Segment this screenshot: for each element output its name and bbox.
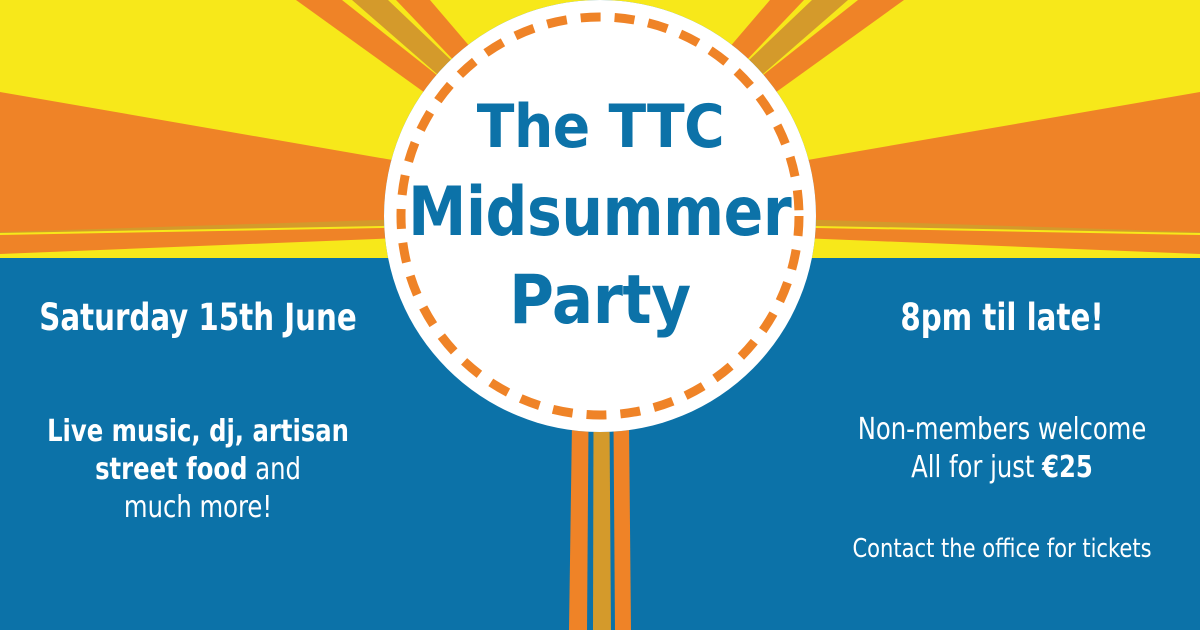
right-info-block: 8pm til late! Non-members welcome All fo… [818,298,1186,566]
features-line-3: much more! [124,490,272,525]
features-line-1: Live music, dj, artisan [47,414,349,449]
features-line-2-bold: street food [95,452,247,487]
event-date-headline: Saturday 15th June [36,298,360,339]
event-features-text: Live music, dj, artisan street food and … [32,413,363,528]
event-admission-text: Non-members welcome All for just €25 [836,411,1167,488]
admission-line-2-prefix: All for just [911,450,1042,485]
ticket-price: €25 [1042,450,1093,485]
contact-instruction: Contact the office for tickets [836,533,1167,566]
features-line-2-rest: and [248,452,301,487]
left-info-block: Saturday 15th June Live music, dj, artis… [14,298,382,528]
medallion-disc [384,0,816,432]
admission-line-1: Non-members welcome [858,412,1147,447]
event-time-headline: 8pm til late! [840,298,1164,339]
event-poster: The TTC Midsummer Party Saturday 15th Ju… [0,0,1200,630]
